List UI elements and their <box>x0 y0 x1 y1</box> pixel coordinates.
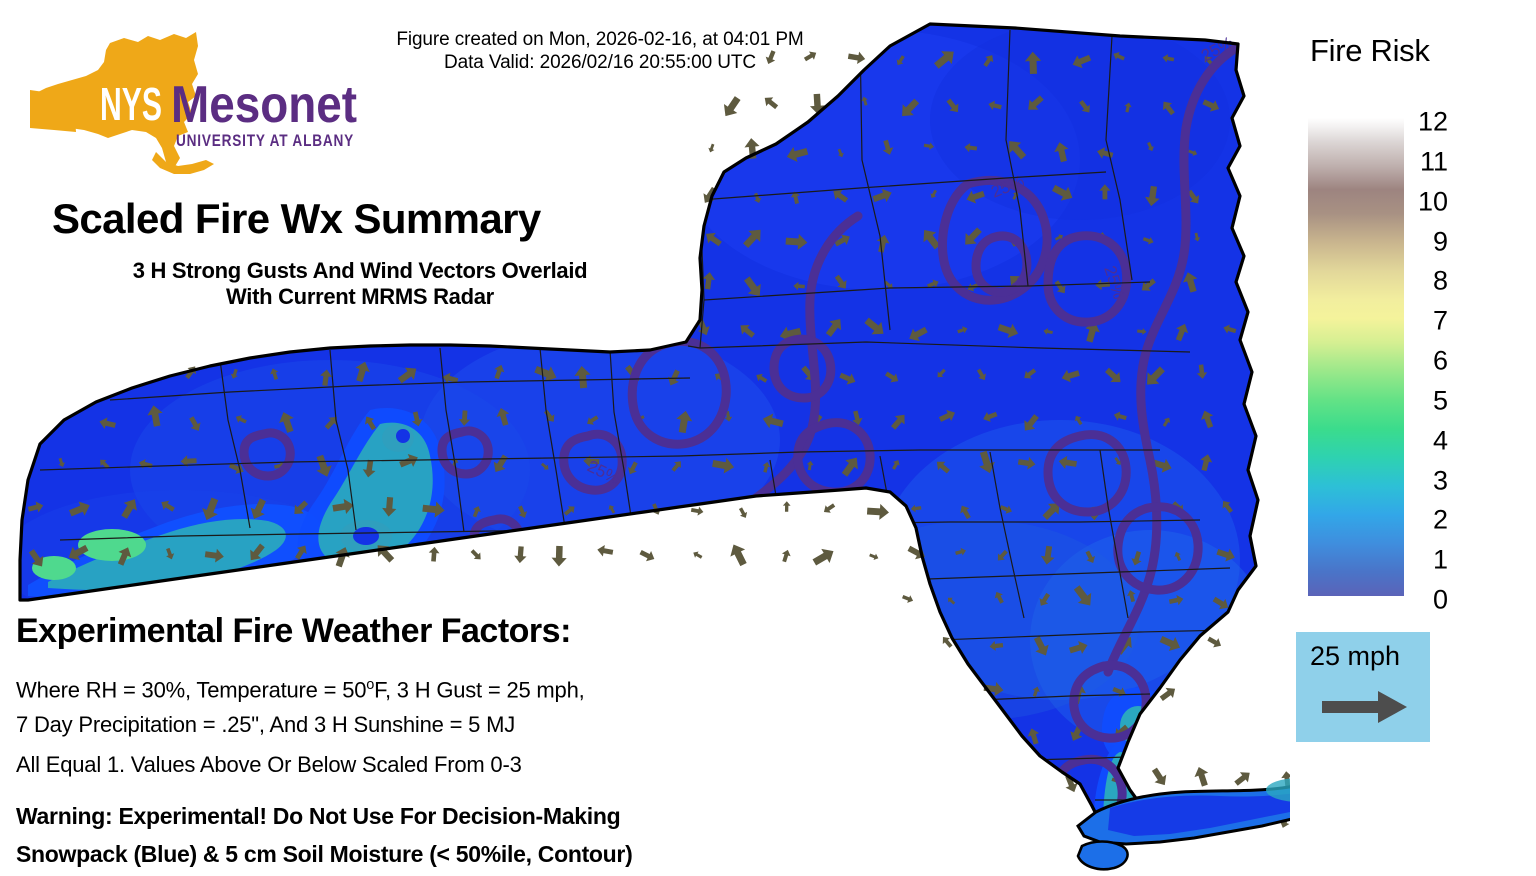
wind-speed-legend: 25 mph <box>1296 632 1430 742</box>
wind-legend-label: 25 mph <box>1310 641 1400 672</box>
colorbar-tick-labels: 1211109876543210 <box>1408 118 1464 596</box>
created-line: Figure created on Mon, 2026-02-16, at 04… <box>340 28 860 51</box>
wind-vector-arrow <box>761 93 780 111</box>
wind-vector-arrow <box>783 501 791 512</box>
colorbar-tick: 1 <box>1433 547 1448 574</box>
wind-vector-arrow <box>780 549 792 564</box>
colorbar-tick: 6 <box>1433 348 1448 375</box>
wind-vector-arrow <box>690 505 704 516</box>
wind-vector-arrow <box>692 549 704 560</box>
colorbar-tick: 9 <box>1433 228 1448 255</box>
warning-line-1: Warning: Experimental! Do Not Use For De… <box>16 803 620 830</box>
colorbar-tick: 11 <box>1420 148 1448 175</box>
colorbar-tick: 0 <box>1433 587 1448 614</box>
subtitle-line-1: 3 H Strong Gusts And Wind Vectors Overla… <box>46 258 674 284</box>
factors-heading: Experimental Fire Weather Factors: <box>16 612 571 651</box>
wind-vector-arrow <box>901 593 914 605</box>
colorbar-tick: 5 <box>1433 387 1448 414</box>
colorbar-tick: 8 <box>1433 268 1448 295</box>
factor-line-1: Where RH = 30%, Temperature = 50oF, 3 H … <box>16 672 585 703</box>
wind-vector-arrow <box>428 546 440 561</box>
fire-risk-colorbar <box>1308 118 1404 596</box>
colorbar-tick: 3 <box>1433 467 1448 494</box>
data-valid-line: Data Valid: 2026/02/16 20:55:00 UTC <box>340 51 860 74</box>
wind-vector-arrow <box>821 501 836 515</box>
factor-line-3: All Equal 1. Values Above Or Below Scale… <box>16 752 522 778</box>
wind-vector-arrow <box>1149 765 1171 789</box>
factor-1-part-a: Where RH = 30%, Temperature = 50 <box>16 677 366 702</box>
colorbar-tick: 7 <box>1433 308 1448 335</box>
wind-vector-arrow <box>551 546 567 567</box>
wind-vector-arrow <box>868 552 879 562</box>
colorbar-tick: 4 <box>1433 427 1448 454</box>
wind-vector-arrow <box>867 503 890 521</box>
wind-vector-arrow <box>726 541 751 568</box>
wind-vector-arrow <box>1232 768 1254 789</box>
factor-line-2: 7 Day Precipitation = .25", And 3 H Suns… <box>16 712 515 738</box>
wind-vector-arrow <box>707 143 716 153</box>
warning-line-2: Snowpack (Blue) & 5 cm Soil Moisture (< … <box>16 841 632 868</box>
wind-vector-arrow <box>638 547 657 564</box>
degree-symbol: o <box>366 677 374 693</box>
colorbar-tick: 12 <box>1418 109 1448 136</box>
figure-timestamp: Figure created on Mon, 2026-02-16, at 04… <box>340 28 860 74</box>
wind-vector-arrow <box>719 94 745 121</box>
wind-vector-arrow <box>737 506 749 520</box>
logo-university-text: UNIVERSITY AT ALBANY <box>176 131 354 150</box>
wind-arrow-icon <box>1322 690 1408 729</box>
nys-mesonet-logo: NYS Mesonet UNIVERSITY AT ALBANY <box>28 18 378 183</box>
colorbar-tick: 2 <box>1433 507 1448 534</box>
wind-vector-arrow <box>810 544 837 569</box>
logo-nys-text: NYS <box>100 78 162 130</box>
factor-1-part-b: F, 3 H Gust = 25 mph, <box>374 677 584 702</box>
subtitle-line-2: With Current MRMS Radar <box>46 284 674 310</box>
page-subtitle: 3 H Strong Gusts And Wind Vectors Overla… <box>46 258 674 310</box>
wind-vector-arrow <box>514 546 528 564</box>
wind-vector-arrow <box>469 547 484 562</box>
wind-vector-arrow <box>596 544 614 558</box>
wind-vector-arrow <box>1192 765 1212 788</box>
colorbar-tick: 10 <box>1418 188 1448 215</box>
wind-vector-arrow <box>1206 634 1224 650</box>
page-title: Scaled Fire Wx Summary <box>52 195 541 243</box>
logo-mesonet-text: Mesonet <box>171 76 357 134</box>
colorbar-title: Fire Risk <box>1310 33 1430 69</box>
